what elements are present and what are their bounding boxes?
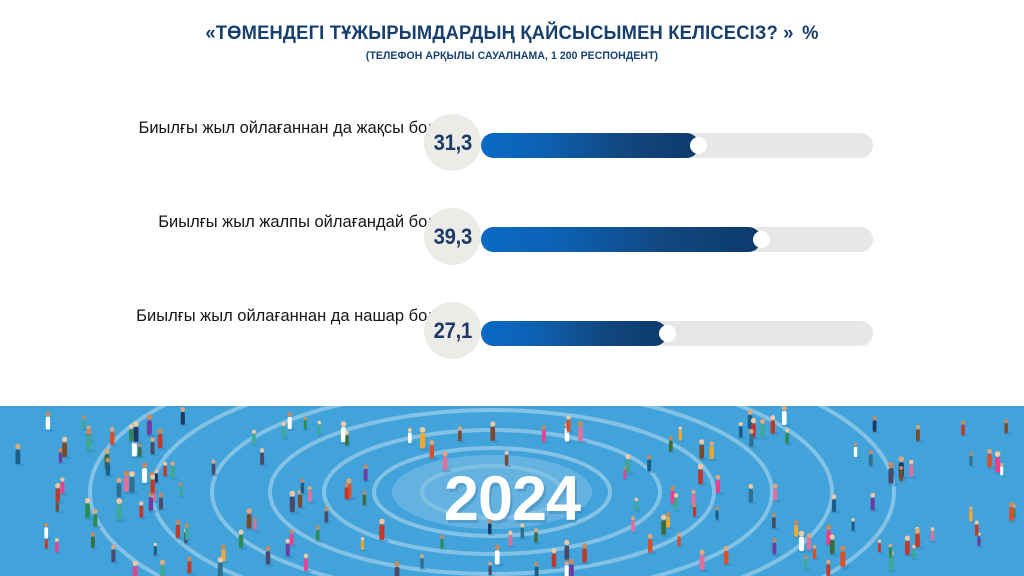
- slider-chart: Биылғы жыл ойлағаннан да жақсы болды 31,…: [0, 104, 1024, 386]
- value-bubble: 27,1: [424, 302, 481, 359]
- chart-row: Биылғы жыл ойлағаннан да жақсы болды 31,…: [0, 104, 1024, 198]
- slider-fill: [481, 321, 667, 346]
- page-title: «ТӨМЕНДЕГІ ТҰЖЫРЫМДАРДЫҢ ҚАЙСЫСЫМЕН КЕЛІ…: [31, 22, 994, 44]
- slider-knob[interactable]: [659, 325, 676, 342]
- value-label: 39,3: [433, 224, 471, 250]
- slider-knob[interactable]: [753, 231, 770, 248]
- slider-fill: [481, 227, 761, 252]
- value-bubble: 31,3: [424, 114, 481, 171]
- value-label: 31,3: [433, 130, 471, 156]
- chart-row: Биылғы жыл ойлағаннан да нашар болды 27,…: [0, 292, 1024, 386]
- slider-control[interactable]: 27,1: [424, 302, 876, 364]
- crowd-people-graphic: [0, 406, 1024, 576]
- row-label: Биылғы жыл жалпы ойлағандай болды: [38, 212, 458, 233]
- value-label: 27,1: [433, 318, 471, 344]
- page-title-text: «ТӨМЕНДЕГІ ТҰЖЫРЫМДАРДЫҢ ҚАЙСЫСЫМЕН КЕЛІ…: [205, 22, 793, 44]
- chart-row: Биылғы жыл жалпы ойлағандай болды 39,3: [0, 198, 1024, 292]
- slider-control[interactable]: 31,3: [424, 114, 876, 176]
- row-label: Биылғы жыл ойлағаннан да жақсы болды: [38, 118, 458, 139]
- value-bubble: 39,3: [424, 208, 481, 265]
- slider-track[interactable]: [481, 227, 873, 252]
- infographic-slide: «ТӨМЕНДЕГІ ТҰЖЫРЫМДАРДЫҢ ҚАЙСЫСЫМЕН КЕЛІ…: [0, 0, 1024, 576]
- slider-knob[interactable]: [690, 137, 707, 154]
- footer-illustration-band: 2024: [0, 406, 1024, 576]
- slider-control[interactable]: 39,3: [424, 208, 876, 270]
- page-subtitle: (ТЕЛЕФОН АРҚЫЛЫ САУАЛНАМА, 1 200 РЕСПОНД…: [26, 50, 999, 62]
- row-label: Биылғы жыл ойлағаннан да нашар болды: [38, 306, 458, 327]
- slider-track[interactable]: [481, 321, 873, 346]
- page-title-unit: %: [802, 22, 818, 44]
- slider-fill: [481, 133, 699, 158]
- header: «ТӨМЕНДЕГІ ТҰЖЫРЫМДАРДЫҢ ҚАЙСЫСЫМЕН КЕЛІ…: [0, 22, 1024, 62]
- slider-track[interactable]: [481, 133, 873, 158]
